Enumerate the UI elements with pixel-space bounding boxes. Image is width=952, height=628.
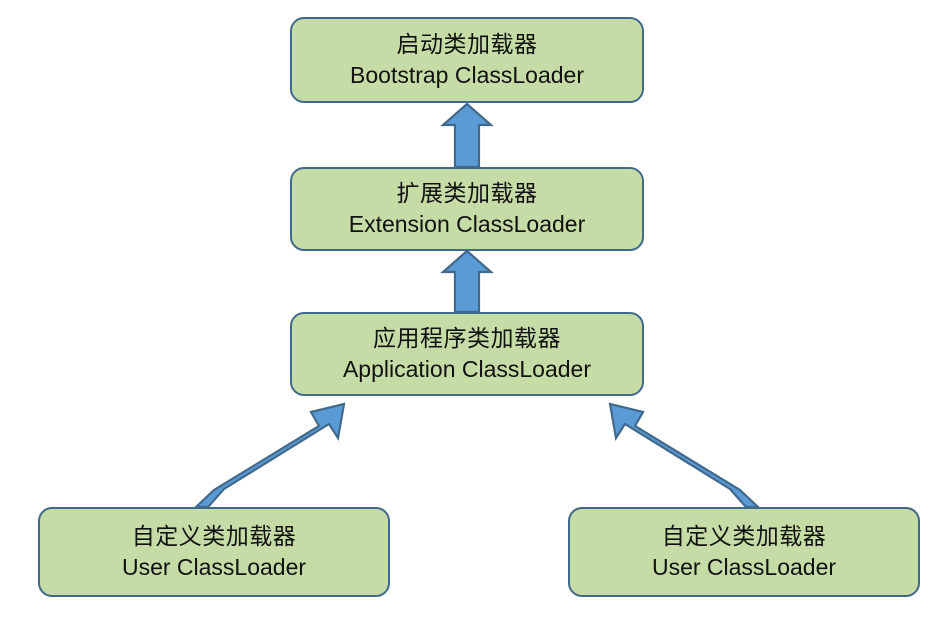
node-user-classloader-left[interactable]: 自定义类加载器 User ClassLoader <box>38 507 390 597</box>
node-bootstrap-label-en: Bootstrap ClassLoader <box>350 61 584 90</box>
node-extension-label-en: Extension ClassLoader <box>349 210 586 239</box>
node-user-left-label-en: User ClassLoader <box>122 553 306 582</box>
edge-user-left-to-application-arrow <box>196 404 344 507</box>
node-bootstrap-label-cn: 启动类加载器 <box>397 30 538 59</box>
node-extension-classloader[interactable]: 扩展类加载器 Extension ClassLoader <box>290 167 644 251</box>
node-application-classloader[interactable]: 应用程序类加载器 Application ClassLoader <box>290 312 644 396</box>
node-bootstrap-classloader[interactable]: 启动类加载器 Bootstrap ClassLoader <box>290 17 644 103</box>
node-application-label-cn: 应用程序类加载器 <box>373 324 561 353</box>
diagram-canvas: 启动类加载器 Bootstrap ClassLoader 扩展类加载器 Exte… <box>0 0 952 628</box>
edge-extension-to-bootstrap-arrow <box>443 104 491 167</box>
node-application-label-en: Application ClassLoader <box>343 355 591 384</box>
edge-user-right-to-application-arrow <box>610 404 758 507</box>
node-user-right-label-cn: 自定义类加载器 <box>662 522 827 551</box>
node-user-left-label-cn: 自定义类加载器 <box>132 522 297 551</box>
node-extension-label-cn: 扩展类加载器 <box>397 179 538 208</box>
node-user-classloader-right[interactable]: 自定义类加载器 User ClassLoader <box>568 507 920 597</box>
node-user-right-label-en: User ClassLoader <box>652 553 836 582</box>
edge-application-to-extension-arrow <box>443 251 491 312</box>
